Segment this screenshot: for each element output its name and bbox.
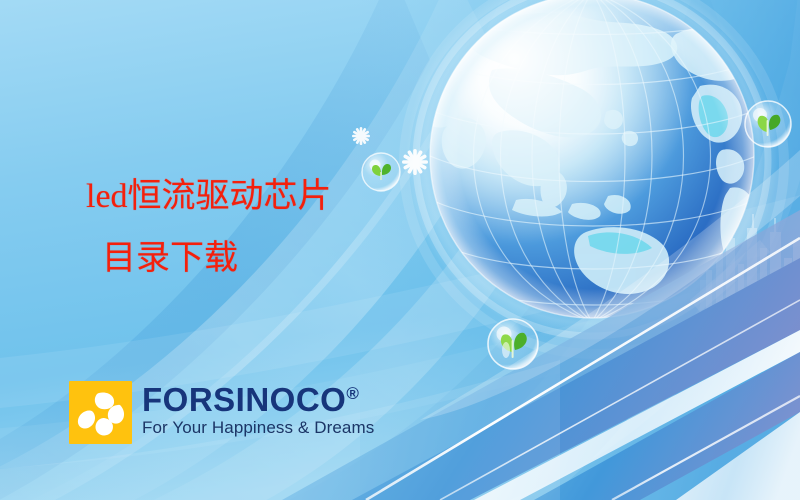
four-petal-pinwheel-icon [69,381,132,444]
logo-wordmark: FORSINOCO® [142,383,359,417]
headline-line-2: 目录下载 [86,228,332,290]
headline-line-1: led恒流驱动芯片 [86,166,332,228]
banner-canvas: led恒流驱动芯片 目录下载 FORSINOCO® [0,0,800,500]
company-logo: FORSINOCO® For Your Happiness & Dreams [69,381,374,444]
eco-bubble-top-right [745,101,791,147]
logo-wordmark-text: FORSINOCO [142,381,346,418]
logo-tagline: For Your Happiness & Dreams [142,418,374,438]
registered-trademark-icon: ® [346,384,359,403]
logo-text-group: FORSINOCO® For Your Happiness & Dreams [142,381,374,438]
eco-bubble-center [362,153,400,191]
eco-bubble-lower [488,319,538,369]
headline: led恒流驱动芯片 目录下载 [86,166,332,290]
